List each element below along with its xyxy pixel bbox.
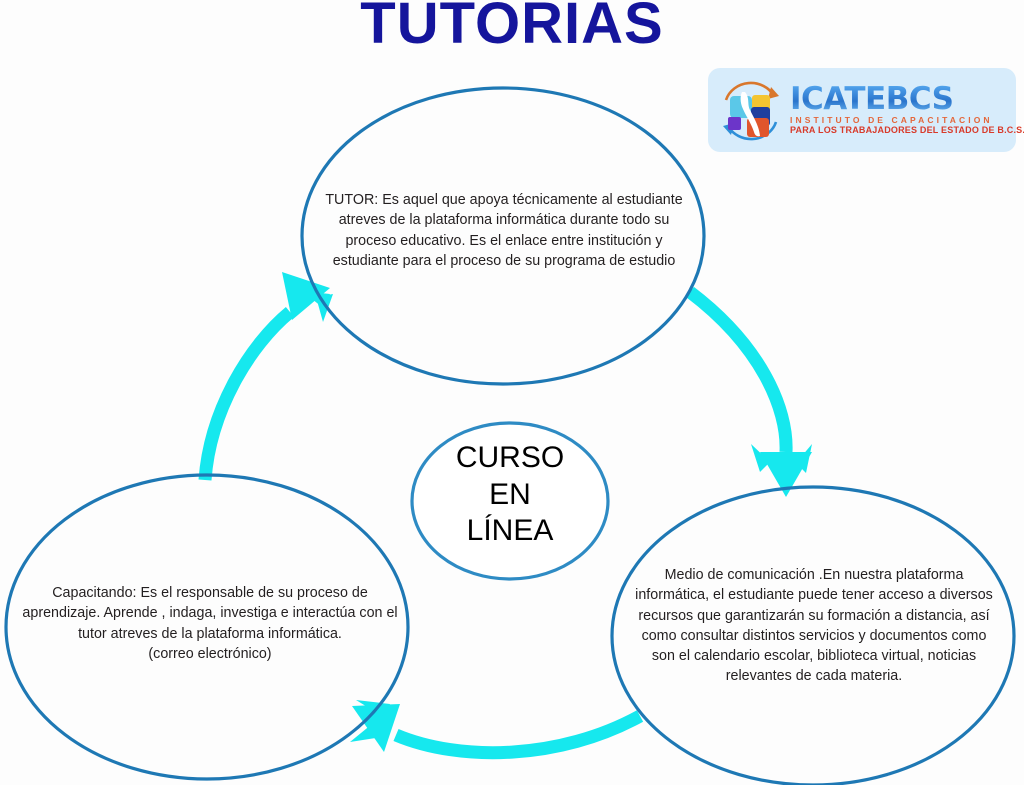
capacitando-circle-text: Capacitando: Es el responsable de su pro…: [22, 583, 398, 664]
diagram-canvas: TUTORIAS ICATEBCS INSTITUTO DE CAPA: [0, 0, 1024, 785]
logo-subtitle-institute: INSTITUTO DE CAPACITACION: [790, 115, 1024, 126]
page-title: TUTORIAS: [0, 0, 1024, 55]
logo-wordmark: ICATEBCS: [790, 84, 1024, 115]
logo-text-block: ICATEBCS INSTITUTO DE CAPACITACION PARA …: [788, 84, 1024, 136]
arrow-capacitando-to-tutor: [205, 272, 333, 480]
logo-subtitle-workers: PARA LOS TRABAJADORES DEL ESTADO DE B.C.…: [790, 125, 1024, 136]
medio-comunicacion-circle-text: Medio de comunicación .En nuestra plataf…: [632, 565, 996, 687]
arrow-medio-to-capacitando: [350, 700, 640, 753]
icatebcs-logo-mark-icon: [714, 74, 788, 146]
icatebcs-logo[interactable]: ICATEBCS INSTITUTO DE CAPACITACION PARA …: [708, 68, 1016, 152]
curso-en-linea-label: CURSO EN LÍNEA: [422, 440, 598, 550]
arrow-tutor-to-medio: [690, 292, 812, 497]
tutor-circle-text: TUTOR: Es aquel que apoya técnicamente a…: [322, 190, 686, 271]
